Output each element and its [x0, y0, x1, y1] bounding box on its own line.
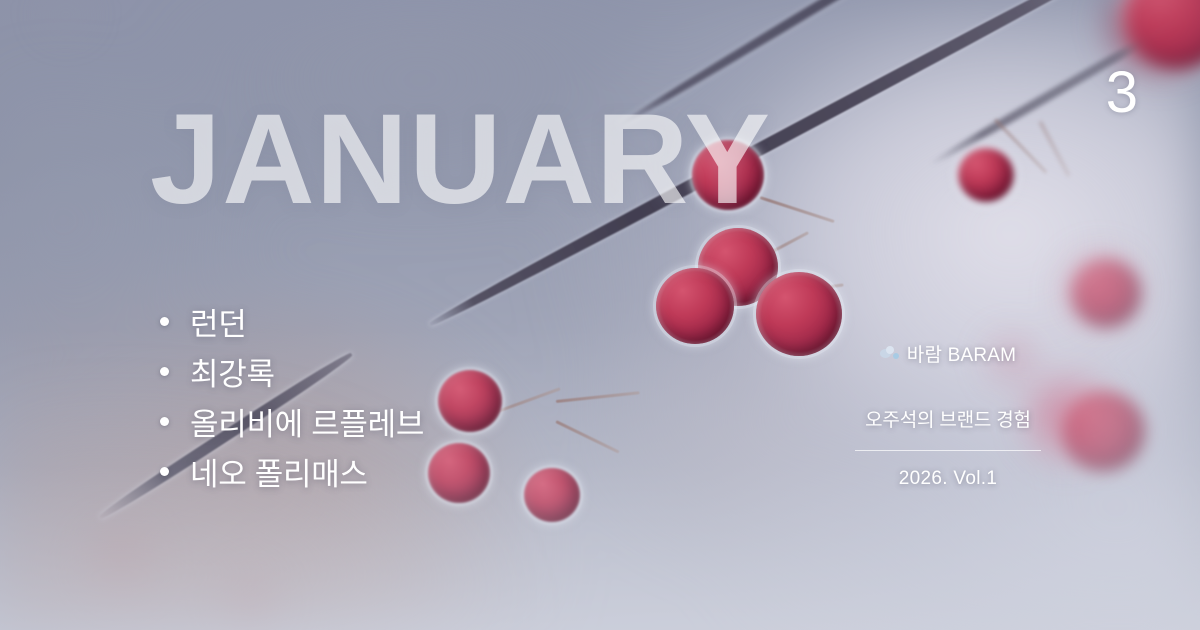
magazine-cover: JANUARY 3 런던 최강록 올리비에 르플레브 네오 폴리매스 바람 BA…	[0, 0, 1200, 630]
berry	[756, 272, 842, 356]
wind-icon	[880, 346, 900, 362]
list-item: 런던	[160, 296, 424, 346]
brand-name-row: 바람 BARAM	[840, 340, 1056, 367]
divider	[855, 450, 1041, 451]
topic-list: 런던 최강록 올리비에 르플레브 네오 폴리매스	[160, 296, 424, 496]
berry-blurred	[1060, 390, 1146, 472]
brand-block: 바람 BARAM 오주석의 브랜드 경험 2026. Vol.1	[840, 340, 1056, 490]
month-title: JANUARY	[150, 96, 771, 224]
topic-label: 런던	[190, 299, 246, 344]
brand-subtitle: 오주석의 브랜드 경험	[840, 405, 1056, 432]
bullet-icon	[160, 317, 169, 326]
bullet-icon	[160, 467, 169, 476]
brand-name: 바람 BARAM	[907, 340, 1016, 367]
list-item: 네오 폴리매스	[160, 446, 424, 496]
berry	[428, 443, 490, 503]
berry-stem	[555, 420, 619, 453]
berry-blurred	[1070, 258, 1142, 328]
bullet-icon	[160, 417, 169, 426]
berry	[656, 268, 734, 344]
berry-stem	[556, 391, 640, 403]
issue-label: 2026. Vol.1	[840, 468, 1056, 490]
list-item: 올리비에 르플레브	[160, 396, 424, 446]
berry	[438, 370, 502, 432]
topic-label: 최강록	[190, 349, 275, 394]
issue-number: 3	[1106, 64, 1138, 122]
topic-label: 네오 폴리매스	[190, 449, 368, 494]
topic-label: 올리비에 르플레브	[190, 399, 424, 444]
list-item: 최강록	[160, 346, 424, 396]
berry-blurred	[958, 148, 1014, 202]
bullet-icon	[160, 367, 169, 376]
berry	[524, 468, 580, 522]
